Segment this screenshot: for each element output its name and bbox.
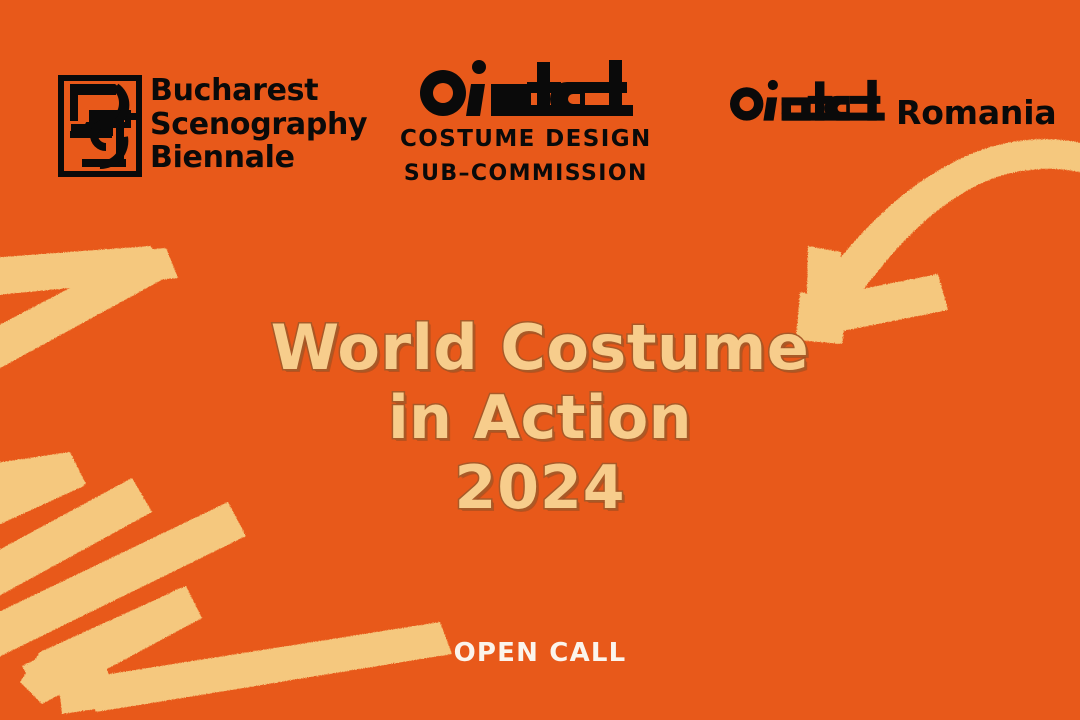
logo-oistat-costume-design: COSTUME DESIGN SUB–COMMISSION [400,58,652,186]
logo-bar: Bucharest Scenography Biennale [0,0,1080,210]
title-line-3: 2024 [0,454,1080,524]
biennale-line-1: Bucharest [150,74,367,108]
biennale-s-mark-icon [58,75,142,177]
biennale-wordmark: Bucharest Scenography Biennale [150,74,367,175]
poster-title: World Costume in Action 2024 [0,312,1080,523]
logo-oistat-romania: Romania [722,78,1056,132]
logo-bucharest-scenography-biennale: Bucharest Scenography Biennale [58,74,367,177]
biennale-line-3: Biennale [150,141,367,175]
sub-commission-label: SUB–COMMISSION [404,161,648,186]
oistat-romania-wordmark-icon [722,78,892,124]
oistat-romania-country-label: Romania [896,93,1056,132]
title-line-2: in Action [0,384,1080,454]
oistat-wordmark-icon [409,58,643,120]
costume-design-label: COSTUME DESIGN [400,126,652,152]
biennale-line-2: Scenography [150,108,367,142]
open-call-label: OPEN CALL [0,638,1080,668]
title-line-1: World Costume [0,312,1080,384]
poster-canvas: Bucharest Scenography Biennale [0,0,1080,720]
